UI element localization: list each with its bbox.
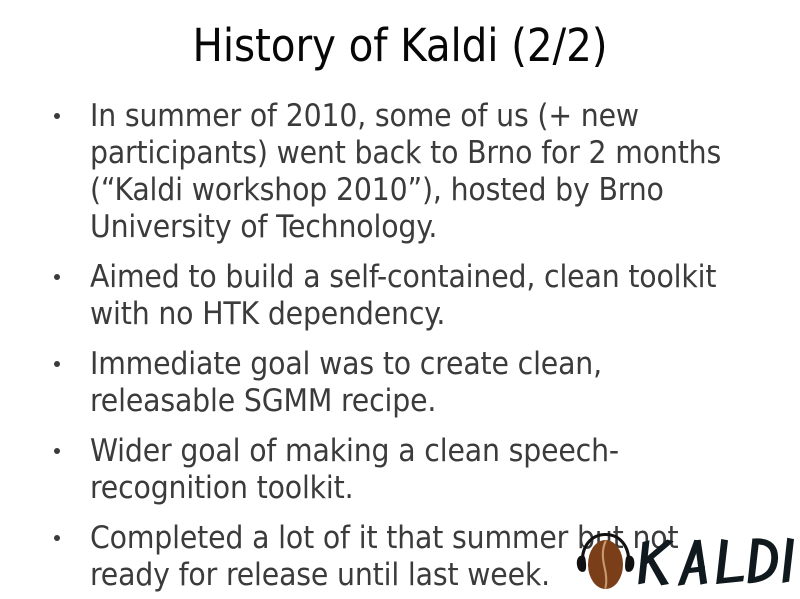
bullet-point-icon	[54, 448, 60, 454]
list-item-text: Wider goal of making a clean speech-reco…	[90, 433, 744, 507]
bullet-list: In summer of 2010, some of us (+ new par…	[44, 98, 744, 594]
bullet-point-icon	[54, 113, 60, 119]
page-title: History of Kaldi (2/2)	[0, 18, 800, 74]
list-item: Wider goal of making a clean speech-reco…	[44, 433, 744, 507]
coffee-bean-icon	[588, 540, 623, 589]
bullet-point-icon	[54, 274, 60, 280]
list-item-text: Aimed to build a self-contained, clean t…	[90, 259, 744, 333]
bullet-point-icon	[54, 535, 60, 541]
list-item-text: Immediate goal was to create clean, rele…	[90, 346, 744, 420]
kaldi-wordmark	[638, 538, 794, 586]
list-item-text: In summer of 2010, some of us (+ new par…	[90, 98, 744, 246]
list-item: Aimed to build a self-contained, clean t…	[44, 259, 744, 333]
list-item: In summer of 2010, some of us (+ new par…	[44, 98, 744, 246]
slide-canvas: History of Kaldi (2/2) In summer of 2010…	[0, 0, 800, 599]
list-item: Immediate goal was to create clean, rele…	[44, 346, 744, 420]
bullet-point-icon	[54, 361, 60, 367]
kaldi-logo	[574, 528, 796, 594]
